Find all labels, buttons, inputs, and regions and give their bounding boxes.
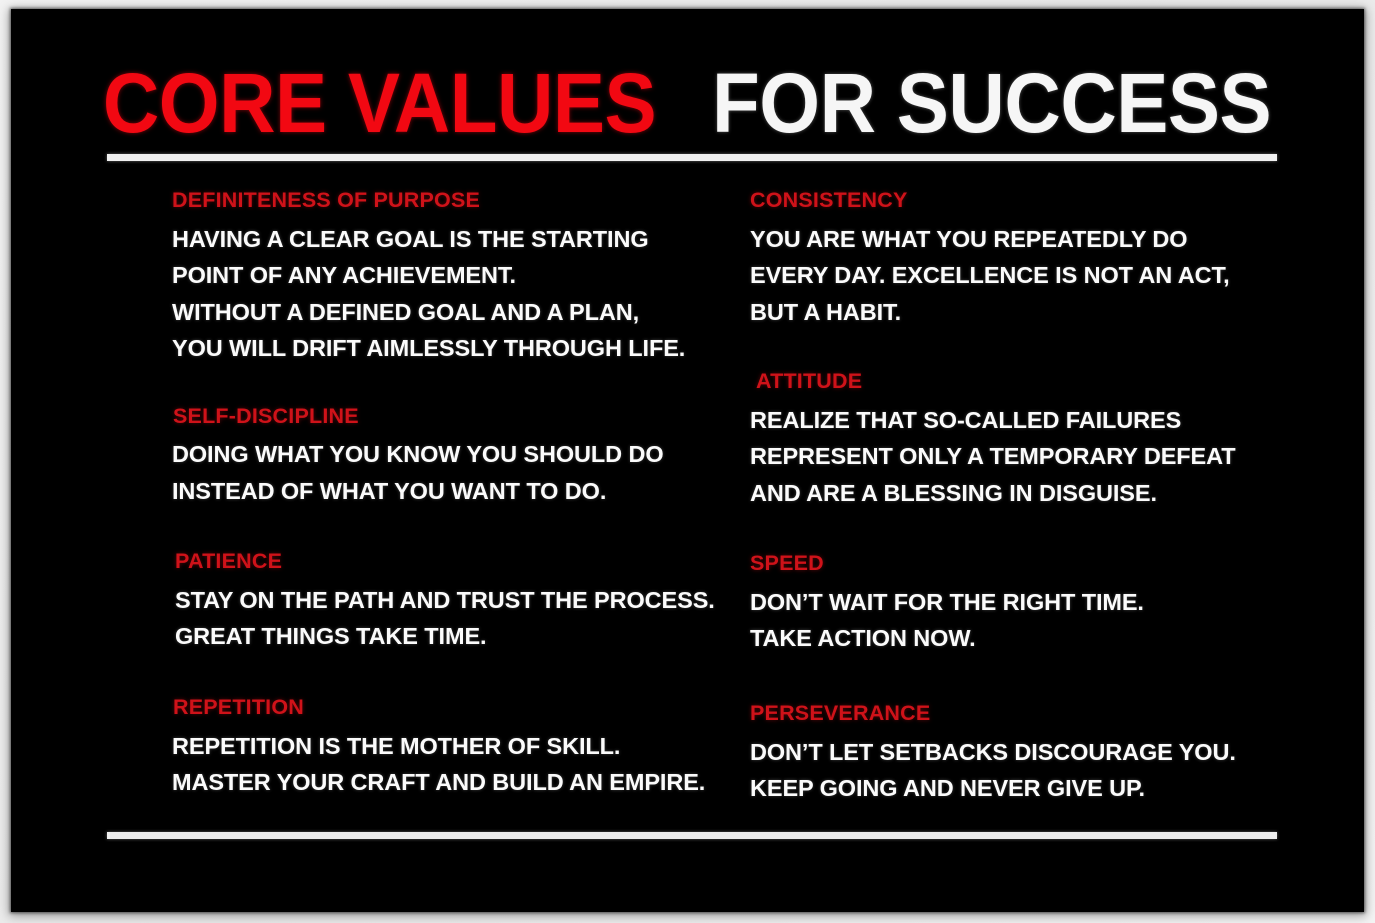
value-body: DON’T WAIT FOR THE RIGHT TIME. TAKE ACTI… [750,584,1290,657]
value-heading: ATTITUDE [750,370,1290,394]
value-heading: PATIENCE [175,550,712,574]
title-white-part: FOR SUCCESS [712,61,1271,145]
value-heading: CONSISTENCY [750,189,1290,213]
value-section-patience: PATIENCE STAY ON THE PATH AND TRUST THE … [172,550,712,655]
value-heading: SELF-DISCIPLINE [172,405,712,429]
value-body-line: POINT OF ANY ACHIEVEMENT. [172,257,712,294]
values-columns: DEFINITENESS OF PURPOSE HAVING A CLEAR G… [11,189,1364,819]
values-column-left: DEFINITENESS OF PURPOSE HAVING A CLEAR G… [172,189,712,801]
values-column-right: CONSISTENCY YOU ARE WHAT YOU REPEATEDLY … [750,189,1290,807]
value-body-line: STAY ON THE PATH AND TRUST THE PROCESS. [175,582,712,619]
value-heading: PERSEVERANCE [750,702,1290,726]
value-body-line: DON’T WAIT FOR THE RIGHT TIME. [750,584,1290,621]
divider-bottom [107,832,1277,839]
value-body: DON’T LET SETBACKS DISCOURAGE YOU. KEEP … [750,734,1290,807]
value-body: YOU ARE WHAT YOU REPEATEDLY DO EVERY DAY… [750,221,1290,331]
poster-canvas: CORE VALUESFOR SUCCESS DEFINITENESS OF P… [0,0,1375,923]
value-section-self-discipline: SELF-DISCIPLINE DOING WHAT YOU KNOW YOU … [172,405,712,510]
value-section-consistency: CONSISTENCY YOU ARE WHAT YOU REPEATEDLY … [750,189,1290,330]
value-body: REPETITION IS THE MOTHER OF SKILL. MASTE… [172,728,712,801]
value-body-line: HAVING A CLEAR GOAL IS THE STARTING [172,221,712,258]
value-body-line: INSTEAD OF WHAT YOU WANT TO DO. [172,473,712,510]
value-body-line: YOU WILL DRIFT AIMLESSLY THROUGH LIFE. [172,330,712,367]
value-body-line: BUT A HABIT. [750,294,1290,331]
value-body-line: DON’T LET SETBACKS DISCOURAGE YOU. [750,734,1290,771]
value-section-attitude: ATTITUDE REALIZE THAT SO-CALLED FAILURES… [750,370,1290,511]
value-body: HAVING A CLEAR GOAL IS THE STARTING POIN… [172,221,712,367]
value-body-line: REALIZE THAT SO-CALLED FAILURES [750,402,1290,439]
value-section-speed: SPEED DON’T WAIT FOR THE RIGHT TIME. TAK… [750,552,1290,657]
value-body-line: AND ARE A BLESSING IN DISGUISE. [750,475,1290,512]
value-heading: DEFINITENESS OF PURPOSE [172,189,712,213]
value-section-definiteness-of-purpose: DEFINITENESS OF PURPOSE HAVING A CLEAR G… [172,189,712,367]
value-body-line: REPETITION IS THE MOTHER OF SKILL. [172,728,712,765]
value-body-line: WITHOUT A DEFINED GOAL AND A PLAN, [172,294,712,331]
value-body-line: REPRESENT ONLY A TEMPORARY DEFEAT [750,438,1290,475]
value-section-repetition: REPETITION REPETITION IS THE MOTHER OF S… [172,696,712,801]
value-heading: REPETITION [172,696,712,720]
value-body: DOING WHAT YOU KNOW YOU SHOULD DO INSTEA… [172,436,712,509]
value-body-line: KEEP GOING AND NEVER GIVE UP. [750,770,1290,807]
value-body-line: TAKE ACTION NOW. [750,620,1290,657]
value-body-line: MASTER YOUR CRAFT AND BUILD AN EMPIRE. [172,764,712,801]
value-heading: SPEED [750,552,1290,576]
page-title: CORE VALUESFOR SUCCESS [11,61,1364,145]
value-body-line: DOING WHAT YOU KNOW YOU SHOULD DO [172,436,712,473]
poster-panel: CORE VALUESFOR SUCCESS DEFINITENESS OF P… [11,9,1364,912]
value-body: REALIZE THAT SO-CALLED FAILURES REPRESEN… [750,402,1290,512]
value-section-perseverance: PERSEVERANCE DON’T LET SETBACKS DISCOURA… [750,702,1290,807]
value-body-line: GREAT THINGS TAKE TIME. [175,618,712,655]
divider-top [107,154,1277,161]
value-body-line: YOU ARE WHAT YOU REPEATEDLY DO [750,221,1290,258]
value-body: STAY ON THE PATH AND TRUST THE PROCESS. … [175,582,712,655]
title-red-part: CORE VALUES [103,61,656,145]
value-body-line: EVERY DAY. EXCELLENCE IS NOT AN ACT, [750,257,1290,294]
